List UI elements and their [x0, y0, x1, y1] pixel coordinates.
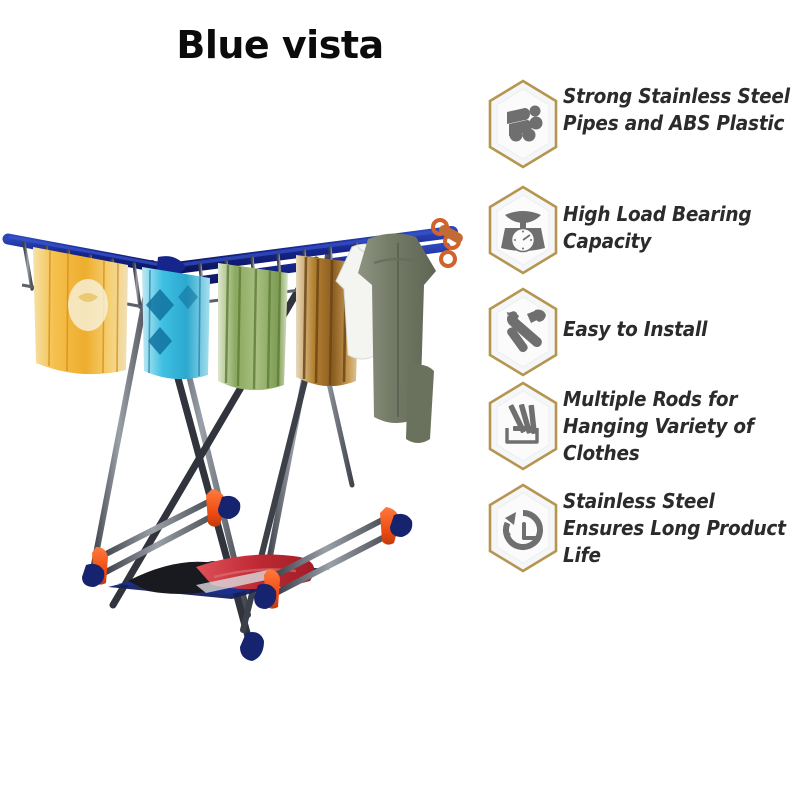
infographic-page: Blue vista	[0, 0, 800, 800]
feature-label: Stainless Steel Ensures Long Product Lif…	[563, 482, 800, 569]
hanger-hooks	[433, 220, 465, 266]
product-image	[0, 185, 490, 675]
feature-item-steel-pipes: Strong Stainless Steel Pipes and ABS Pla…	[483, 78, 800, 170]
multiple-rods-icon	[483, 380, 563, 472]
feature-item-long-life: Stainless Steel Ensures Long Product Lif…	[483, 482, 800, 574]
feature-label: High Load Bearing Capacity	[563, 184, 800, 255]
feature-item-load-bearing: High Load Bearing Capacity	[483, 184, 800, 276]
feature-item-multiple-rods: Multiple Rods for Hanging Variety of Clo…	[483, 380, 800, 472]
feature-label: Multiple Rods for Hanging Variety of Clo…	[563, 380, 800, 467]
steel-pipes-icon	[483, 78, 563, 170]
page-title: Blue vista	[0, 22, 560, 68]
feature-label: Easy to Install	[563, 286, 800, 343]
feature-label: Strong Stainless Steel Pipes and ABS Pla…	[563, 78, 800, 137]
wrench-hammer-icon	[483, 286, 563, 378]
weighing-scale-icon	[483, 184, 563, 276]
feature-item-easy-install: Easy to Install	[483, 286, 800, 378]
clock-history-icon	[483, 482, 563, 574]
feature-list: Strong Stainless Steel Pipes and ABS Pla…	[483, 78, 800, 578]
